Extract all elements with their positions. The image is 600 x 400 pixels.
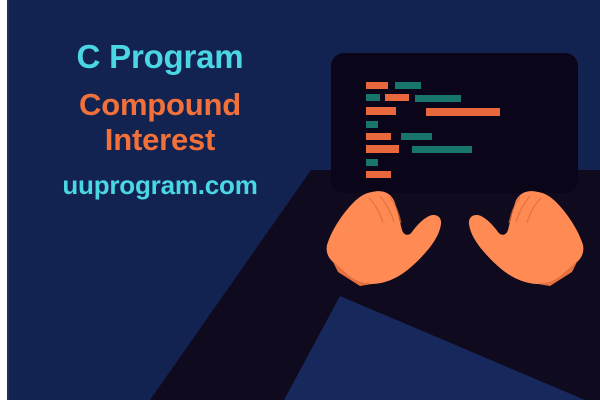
title-line-website: uuprogram.com (10, 171, 310, 200)
code-line-6 (366, 145, 472, 153)
left-edge-shadow (7, 0, 9, 400)
title-block: C Program Compound Interest uuprogram.co… (10, 38, 310, 201)
left-edge-strip (0, 0, 7, 400)
slide-canvas: C Program Compound Interest uuprogram.co… (0, 0, 600, 400)
code-line-3 (366, 107, 500, 116)
code-line-8 (366, 171, 391, 178)
title-line-c-program: C Program (10, 38, 310, 75)
title-line-compound: Compound (10, 87, 310, 122)
code-line-7 (366, 159, 378, 166)
code-line-4 (366, 121, 378, 128)
title-line-interest: Interest (10, 122, 310, 157)
